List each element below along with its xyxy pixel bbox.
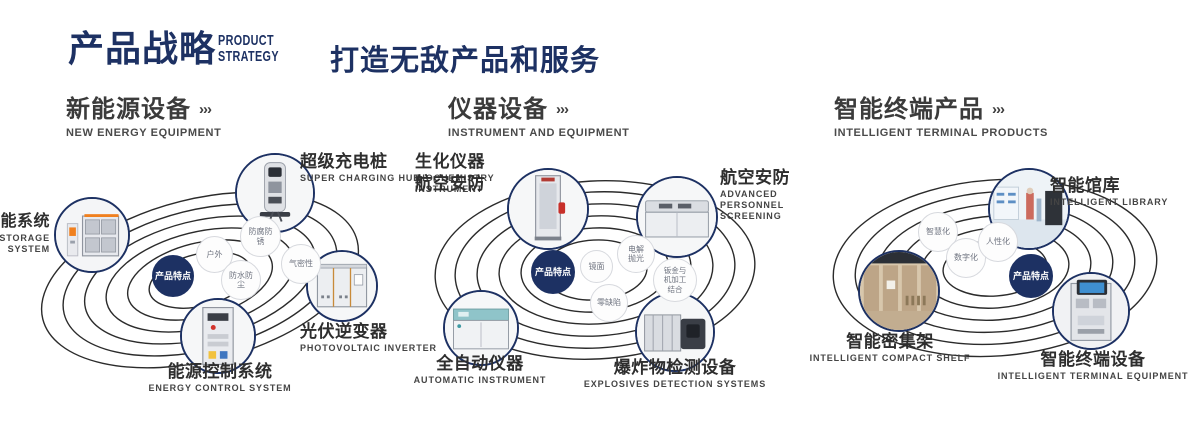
- caption-intelligent-compact-shelf: 智能密集架 INTELLIGENT COMPACT SHELF: [790, 332, 990, 364]
- caption-en: AUTOMATIC INSTRUMENT: [380, 375, 580, 386]
- caption-cn: 智能密集架: [790, 332, 990, 351]
- section-heading-cn: 新能源设备›››: [66, 96, 221, 123]
- caption-cn: 能源控制系统: [85, 362, 355, 381]
- feature-bubble-label: 零缺陷: [596, 298, 622, 308]
- diagram-panel-instrument-and-equipment: 生化仪器 BIOCHEMISTRY INSTRUMENT 航空安防 航空安防 A…: [395, 150, 795, 422]
- caption-en: ENERGY CONTROL SYSTEM: [85, 383, 355, 394]
- section-heading-en: INSTRUMENT AND EQUIPMENT: [448, 127, 629, 139]
- terminal-kiosk-icon: [1054, 274, 1128, 348]
- caption-en: INTELLIGENT LIBRARY: [1050, 197, 1168, 208]
- feature-bubble-label: 防腐防锈: [249, 227, 273, 246]
- feature-bubble-label: 钣金与机加工结合: [661, 266, 689, 295]
- caption-intelligent-library: 智能馆库 INTELLIGENT LIBRARY: [1050, 176, 1168, 208]
- caption-intelligent-terminal-equipment: 智能终端设备 INTELLIGENT TERMINAL EQUIPMENT: [988, 350, 1198, 382]
- chevron-right-icon: ›››: [992, 96, 1004, 123]
- section-heading-instrument-and-equipment: 仪器设备››› INSTRUMENT AND EQUIPMENT: [448, 96, 629, 139]
- caption-cn: 生化仪器: [415, 152, 515, 171]
- caption-cn: 储能系统: [0, 212, 50, 231]
- biochemistry-scanner-icon: [509, 170, 587, 248]
- product-strategy-infographic: 产品战略 PRODUCT STRATEGY 打造无敌产品和服务 新能源设备›››…: [0, 0, 1200, 422]
- chevron-right-icon: ›››: [199, 96, 211, 123]
- caption-explosives-detection-systems: 爆炸物检测设备 EXPLOSIVES DETECTION SYSTEMS: [575, 358, 775, 390]
- chevron-right-icon: ›››: [556, 96, 568, 123]
- center-bubble-label: 产品特点: [535, 267, 571, 278]
- caption-en: EXPLOSIVES DETECTION SYSTEMS: [575, 379, 775, 390]
- caption-cn: 智能终端设备: [988, 350, 1198, 369]
- caption-en: INTELLIGENT COMPACT SHELF: [790, 353, 990, 364]
- product-node-intelligent-compact-shelf[interactable]: [858, 250, 940, 332]
- caption-cn: 全自动仪器: [380, 354, 580, 373]
- caption-energy-control-system: 能源控制系统 ENERGY CONTROL SYSTEM: [85, 362, 355, 394]
- page-title-en: PRODUCT STRATEGY: [218, 33, 279, 64]
- feature-bubble-label: 户外: [207, 250, 223, 260]
- feature-bubble-1: 镜面: [580, 250, 613, 283]
- section-heading-intelligent-terminal-products: 智能终端产品››› INTELLIGENT TERMINAL PRODUCTS: [834, 96, 1048, 139]
- energy-storage-cabinet-icon: [56, 199, 128, 271]
- page-title-en-line1: PRODUCT: [218, 33, 279, 49]
- caption-cn: 爆炸物检测设备: [575, 358, 775, 377]
- center-bubble-label: 产品特点: [1013, 271, 1049, 282]
- compact-shelf-icon: [860, 252, 938, 330]
- product-node-intelligent-terminal-equipment[interactable]: [1052, 272, 1130, 350]
- page-title-en-line2: STRATEGY: [218, 49, 279, 65]
- caption-cn: 航空安防: [415, 174, 485, 193]
- section-heading-new-energy-equipment: 新能源设备››› NEW ENERGY EQUIPMENT: [66, 96, 221, 139]
- section-heading-en: INTELLIGENT TERMINAL PRODUCTS: [834, 127, 1048, 139]
- center-bubble-product-features: 产品特点: [531, 250, 575, 294]
- feature-bubble-3: 钣金与机加工结合: [653, 258, 697, 302]
- diagram-panel-new-energy-equipment: 储能系统 ENERGY STORAGE SYSTEM 超级充电桩 SUPER C…: [0, 150, 400, 422]
- feature-bubble-label: 人性化: [986, 237, 1010, 247]
- section-heading-cn-text: 新能源设备: [66, 96, 191, 123]
- section-heading-cn-text: 智能终端产品: [834, 96, 984, 123]
- page-title-cn: 产品战略: [68, 27, 216, 71]
- center-bubble-product-features: 产品特点: [1009, 254, 1053, 298]
- section-heading-en: NEW ENERGY EQUIPMENT: [66, 127, 221, 139]
- feature-bubble-2: 电解抛光: [617, 235, 655, 273]
- center-bubble-product-features: 产品特点: [152, 255, 194, 297]
- product-node-biochemistry-instrument[interactable]: [507, 168, 589, 250]
- caption-cn: 智能馆库: [1050, 176, 1168, 195]
- feature-bubble-3: 气密性: [281, 244, 321, 284]
- product-node-energy-storage-system[interactable]: [54, 197, 130, 273]
- caption-en: INTELLIGENT TERMINAL EQUIPMENT: [988, 371, 1198, 382]
- feature-bubble-label: 智慧化: [926, 227, 950, 237]
- caption-aviation-security-secondary: 航空安防: [415, 174, 485, 193]
- feature-bubble-label: 数字化: [954, 253, 978, 263]
- section-heading-cn: 仪器设备›››: [448, 96, 629, 123]
- feature-bubble-label: 镜面: [589, 262, 605, 272]
- caption-en: ENERGY STORAGE SYSTEM: [0, 233, 50, 255]
- feature-bubble-label: 防水防尘: [229, 271, 253, 290]
- caption-automatic-instrument: 全自动仪器 AUTOMATIC INSTRUMENT: [380, 354, 580, 386]
- page-subtitle: 打造无敌产品和服务: [330, 37, 600, 79]
- feature-bubble-3: 人性化: [978, 222, 1018, 262]
- section-heading-cn-text: 仪器设备: [448, 96, 548, 123]
- diagram-panel-intelligent-terminal-products: 智能馆库 INTELLIGENT LIBRARY 智能密集架 INTELLIGE…: [800, 150, 1200, 422]
- caption-energy-storage-system: 储能系统 ENERGY STORAGE SYSTEM: [0, 212, 50, 255]
- feature-bubble-label: 气密性: [287, 259, 315, 269]
- feature-bubble-2: 防腐防锈: [240, 216, 281, 257]
- section-heading-cn: 智能终端产品›››: [834, 96, 1048, 123]
- feature-bubble-label: 电解抛光: [627, 245, 645, 264]
- center-bubble-label: 产品特点: [155, 271, 191, 282]
- feature-bubble-4: 防水防尘: [221, 260, 261, 300]
- feature-bubble-4: 零缺陷: [590, 284, 628, 322]
